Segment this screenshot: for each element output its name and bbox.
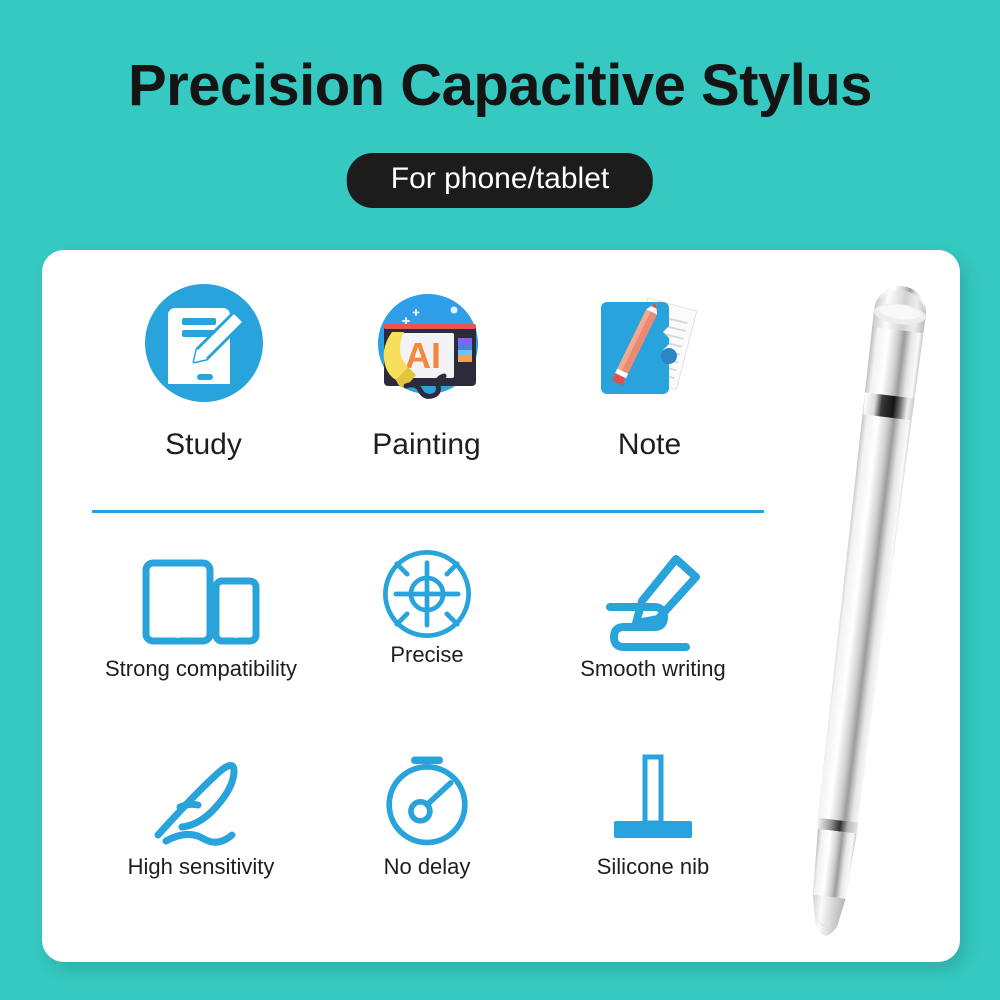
page-title: Precision Capacitive Stylus <box>0 52 1000 119</box>
feature-grid: Strong compatibility <box>88 546 768 942</box>
feature-label: Precise <box>390 642 463 668</box>
drawing-tablet-ai-icon: AI <box>362 280 492 410</box>
notebook-pencil-papers-icon <box>585 280 715 410</box>
feature-label: Smooth writing <box>580 656 726 682</box>
stopwatch-icon <box>375 744 479 854</box>
feature-precise: Precise <box>314 546 540 744</box>
use-case-study: Study <box>92 280 315 462</box>
header-banner: Precision Capacitive Stylus For phone/ta… <box>0 0 1000 250</box>
section-divider <box>92 510 764 513</box>
feature-strong-compatibility: Strong compatibility <box>88 546 314 744</box>
use-case-painting: AI Painting <box>315 280 538 462</box>
use-case-row: Study A <box>92 280 762 462</box>
feature-smooth-writing: Smooth writing <box>540 546 766 744</box>
pencil-stroke-icon <box>588 546 718 656</box>
use-case-label: Note <box>618 428 681 462</box>
crosshair-target-icon <box>375 546 479 642</box>
feather-quill-icon <box>136 744 266 854</box>
use-case-label: Study <box>165 428 242 462</box>
feature-no-delay: No delay <box>314 744 540 942</box>
phone-pencil-circle-icon <box>139 280 269 410</box>
feature-label: Strong compatibility <box>105 656 297 682</box>
feature-row: High sensitivity No delay <box>88 744 768 942</box>
feature-high-sensitivity: High sensitivity <box>88 744 314 942</box>
use-case-note: Note <box>538 280 761 462</box>
nib-tip-icon <box>588 744 718 854</box>
feature-silicone-nib: Silicone nib <box>540 744 766 942</box>
feature-label: High sensitivity <box>128 854 275 880</box>
use-case-label: Painting <box>372 428 480 462</box>
tablet-phone-icon <box>136 546 266 656</box>
feature-label: Silicone nib <box>597 854 710 880</box>
feature-row: Strong compatibility <box>88 546 768 744</box>
subtitle-badge: For phone/tablet <box>347 153 653 208</box>
feature-label: No delay <box>384 854 471 880</box>
feature-card: Study A <box>42 250 960 962</box>
